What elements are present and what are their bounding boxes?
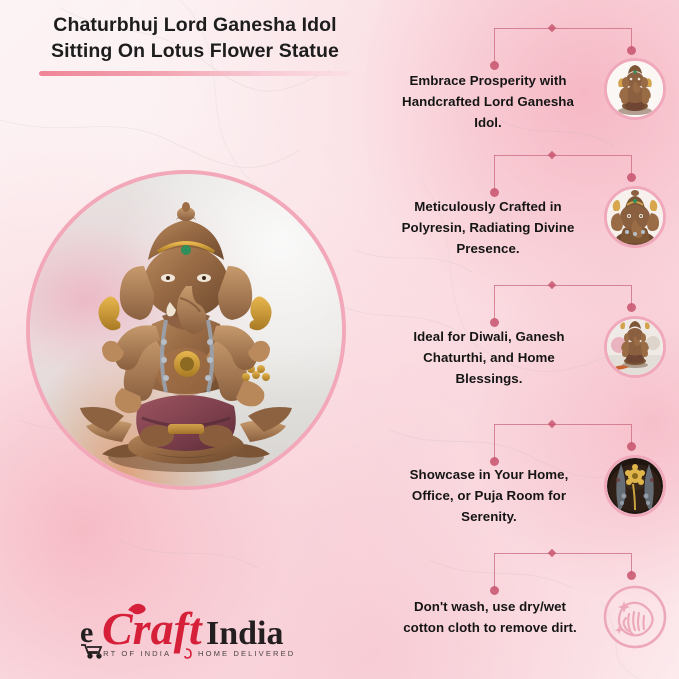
feature-text-material: Meticulously Crafted in Polyresin, Radia… — [378, 196, 598, 259]
feature-text-prosperity: Embrace Prosperity with Handcrafted Lord… — [382, 70, 594, 133]
thumb-art-1 — [607, 61, 663, 117]
connector-horizontal — [494, 424, 631, 425]
connector-horizontal — [494, 28, 631, 29]
feature-text-occasion: Ideal for Diwali, Ganesh Chaturthi, and … — [386, 326, 592, 389]
brand-logo[interactable]: e Craft India ART OF INDIA HOME DELIVERE… — [78, 596, 318, 662]
connector-vertical-left — [494, 28, 495, 65]
feature-line: Blessings. — [386, 368, 592, 389]
thumbnail-inner — [607, 61, 663, 117]
feature-line: Showcase in Your Home, — [382, 464, 596, 485]
logo-prefix-e: e — [80, 616, 93, 649]
feature-line: Ideal for Diwali, Ganesh — [386, 326, 592, 347]
feature-line: Chaturthi, and Home — [386, 347, 592, 368]
connector-dot-left — [490, 586, 499, 595]
hero-product-image[interactable] — [26, 170, 346, 490]
feature-line: Handcrafted Lord Ganesha — [382, 91, 594, 112]
connector-dot-right — [627, 173, 636, 182]
feature-line: Idol. — [382, 112, 594, 133]
feature-line: Office, or Puja Room for — [382, 485, 596, 506]
feature-line: Presence. — [378, 238, 598, 259]
connector-vertical-left — [494, 424, 495, 461]
connector-horizontal — [494, 285, 631, 286]
thumb-art-2 — [607, 189, 663, 245]
connector-dot-right — [627, 571, 636, 580]
thumbnail-ornament-detail[interactable] — [604, 455, 666, 517]
ganesha-idol-illustration — [30, 174, 342, 486]
feature-line: Don't wash, use dry/wet — [382, 596, 598, 617]
thumb-art-4 — [607, 458, 663, 514]
connector-dot-right — [627, 303, 636, 312]
connector-vertical-left — [494, 155, 495, 192]
feature-text-care: Don't wash, use dry/wet cotton cloth to … — [382, 596, 598, 638]
connector-dot-right — [627, 442, 636, 451]
page-title: Chaturbhuj Lord Ganesha Idol Sitting On … — [0, 12, 390, 76]
thumbnail-inner — [607, 189, 663, 245]
thumbnail-inner — [607, 458, 663, 514]
connector-horizontal — [494, 155, 631, 156]
title-line-2: Sitting On Lotus Flower Statue — [0, 38, 390, 64]
connector-dot-left — [490, 61, 499, 70]
title-line-1: Chaturbhuj Lord Ganesha Idol — [0, 12, 390, 38]
logo-serif-india: India — [206, 615, 284, 652]
thumbnail-inner — [607, 319, 663, 375]
logo-tagline-left: ART OF INDIA — [96, 649, 171, 658]
connector-horizontal — [494, 553, 631, 554]
hand-wipe-cloth-icon — [602, 584, 668, 650]
logo-script-craft: Craft — [102, 603, 203, 654]
thumbnail-ganesha-closeup[interactable] — [604, 186, 666, 248]
feature-line: Embrace Prosperity with — [382, 70, 594, 91]
ecraftindia-logo: e Craft India ART OF INDIA HOME DELIVERE… — [78, 596, 318, 662]
feature-line: cotton cloth to remove dirt. — [382, 617, 598, 638]
feature-line: Polyresin, Radiating Divine — [378, 217, 598, 238]
thumbnail-ganesha-full[interactable] — [604, 58, 666, 120]
logo-tagline-right: HOME DELIVERED — [198, 649, 295, 658]
thumbnail-ganesha-styled[interactable] — [604, 316, 666, 378]
hero-image-inner — [30, 174, 342, 486]
connector-vertical-left — [494, 285, 495, 322]
feature-line: Meticulously Crafted in — [378, 196, 598, 217]
feature-line: Serenity. — [382, 506, 596, 527]
connector-vertical-left — [494, 553, 495, 590]
feature-text-placement: Showcase in Your Home, Office, or Puja R… — [382, 464, 596, 527]
thumb-art-3 — [607, 319, 663, 375]
title-underline — [39, 71, 351, 76]
connector-dot-right — [627, 46, 636, 55]
care-instruction-icon[interactable] — [602, 584, 668, 650]
